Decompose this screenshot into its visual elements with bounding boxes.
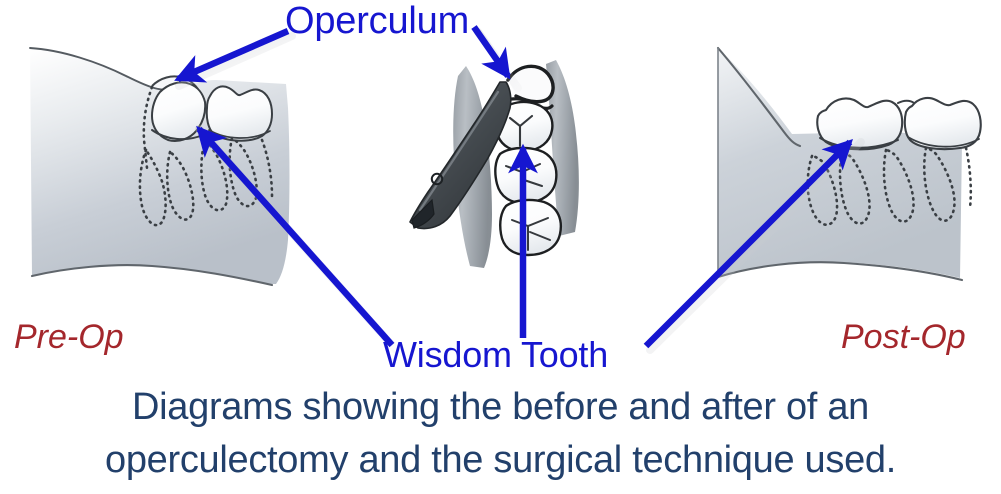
label-operculum: Operculum	[285, 2, 469, 40]
post-op-interdental-notch	[898, 101, 914, 103]
label-pre-op: Pre-Op	[14, 320, 124, 354]
figure-caption: Diagrams showing the before and after of…	[0, 381, 1001, 487]
pre-op-adjacent-molar	[207, 86, 272, 140]
panel-pre-op	[30, 48, 290, 285]
label-post-op: Post-Op	[841, 320, 966, 354]
panel-surgical-technique	[410, 60, 579, 268]
caption-line-1: Diagrams showing the before and after of…	[0, 381, 1001, 434]
label-wisdom-tooth: Wisdom Tooth	[383, 337, 608, 373]
arrow-operculum-left	[178, 31, 288, 79]
arrow-operculum-middle	[474, 27, 508, 76]
diagram-canvas: Operculum Wisdom Tooth Pre-Op Post-Op Di…	[0, 0, 1001, 494]
caption-line-2: operculectomy and the surgical technique…	[0, 434, 1001, 487]
post-op-root-connector	[966, 148, 971, 208]
